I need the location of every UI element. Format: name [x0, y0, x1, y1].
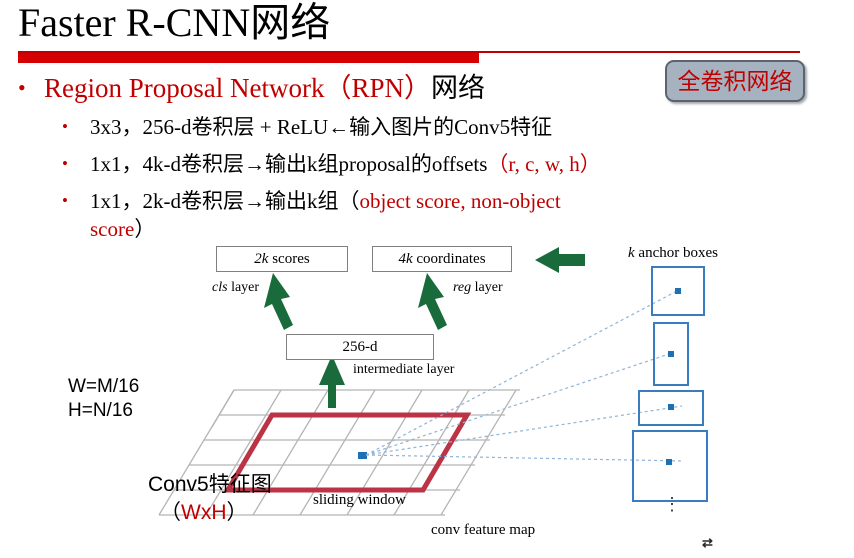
cls-scores-label: scores [268, 251, 309, 267]
anchor-box-3-center [668, 404, 674, 410]
wxh-text: WxH [181, 501, 227, 524]
bullet-rpn-black: 网络 [431, 73, 485, 103]
title-divider-thick [18, 53, 479, 63]
k-anchor-em: k [628, 245, 635, 261]
page-title: Faster R-CNN网络 [18, 0, 330, 48]
bullet-conv1x1-4k: •1x1，4k-d卷积层→输出k组proposal的offsets（r, c, … [62, 150, 601, 178]
bullet-conv1x1-4k-text: 1x1，4k-d卷积层→输出k组proposal的offsets [90, 152, 487, 176]
bullet-conv1x1-2k-text: 1x1，2k-d卷积层→输出k组（ [90, 189, 360, 213]
reg-coordinates-box: 4k coordinates [372, 246, 512, 272]
reg-layer-label: reg layer [453, 280, 503, 296]
paren-open: （ [160, 501, 181, 524]
bullet-score-red: score [90, 217, 134, 241]
k-anchor-boxes-label: k anchor boxes [628, 245, 718, 262]
conv5-dimensions-label: （WxH） [160, 496, 248, 526]
intermediate-box: 256-d [286, 334, 434, 360]
arrow-up-reg [418, 273, 447, 330]
anchor-boxes-ellipsis: ⋮ [663, 500, 670, 509]
anchor-box-1-center [675, 288, 681, 294]
cls-layer-em: cls [212, 280, 228, 295]
bullet-rpn-red: Region Proposal Network（RPN） [44, 73, 431, 103]
bullet-marker: • [18, 72, 44, 104]
intermediate-layer-label: intermediate layer [353, 362, 454, 378]
k-anchor-rest: anchor boxes [635, 245, 718, 261]
corner-mark-icon: ⇄ [702, 535, 713, 551]
h-formula-label: H=N/16 [68, 400, 133, 422]
bullet-rpn: •Region Proposal Network（RPN）网络 [18, 72, 485, 104]
bullet-conv3x3: •3x3，256-d卷积层 + ReLU←输入图片的Conv5特征 [62, 113, 552, 141]
reg-layer-rest: layer [471, 280, 502, 295]
cls-scores-box: 2k scores [216, 246, 348, 272]
bullet-score-paren: ） [134, 217, 155, 241]
conv-feature-map-label: conv feature map [431, 522, 535, 539]
bullet-conv1x1-2k: •1x1，2k-d卷积层→输出k组（object score, non-obje… [62, 187, 561, 215]
bullet-conv1x1-2k-scores: object score, non-object [360, 189, 561, 213]
callout-fully-convolutional-network: 全卷积网络 [665, 60, 805, 102]
bullet-marker: • [62, 150, 90, 178]
anchor-box-4 [632, 430, 708, 502]
cls-scores-k: 2k [254, 251, 268, 267]
w-formula-label: W=M/16 [68, 376, 139, 398]
arrow-up-intermediate [319, 355, 345, 408]
sliding-window-center-point [358, 452, 367, 459]
bullet-marker: • [62, 113, 90, 141]
anchor-box-4-center [666, 459, 672, 465]
bullet-marker: • [62, 187, 90, 215]
anchor-box-2-center [668, 351, 674, 357]
bullet-conv1x1-4k-offsets: （r, c, w, h） [487, 152, 600, 176]
conv5-feature-map-label: Conv5特征图 [148, 468, 272, 498]
reg-coordinates-label: coordinates [413, 251, 486, 267]
arrow-left-anchors [535, 247, 585, 273]
bullet-conv3x3-text: 3x3，256-d卷积层 + ReLU←输入图片的Conv5特征 [90, 115, 552, 139]
reg-coordinates-k: 4k [398, 251, 412, 267]
reg-layer-em: reg [453, 280, 471, 295]
arrow-up-cls [264, 273, 293, 330]
sliding-window-label: sliding window [313, 492, 406, 509]
cls-layer-label: cls layer [212, 280, 259, 296]
intermediate-box-label: 256-d [343, 339, 378, 355]
paren-close: ） [227, 501, 248, 524]
bullet-conv1x1-2k-continuation: score） [90, 215, 155, 243]
cls-layer-rest: layer [228, 280, 259, 295]
